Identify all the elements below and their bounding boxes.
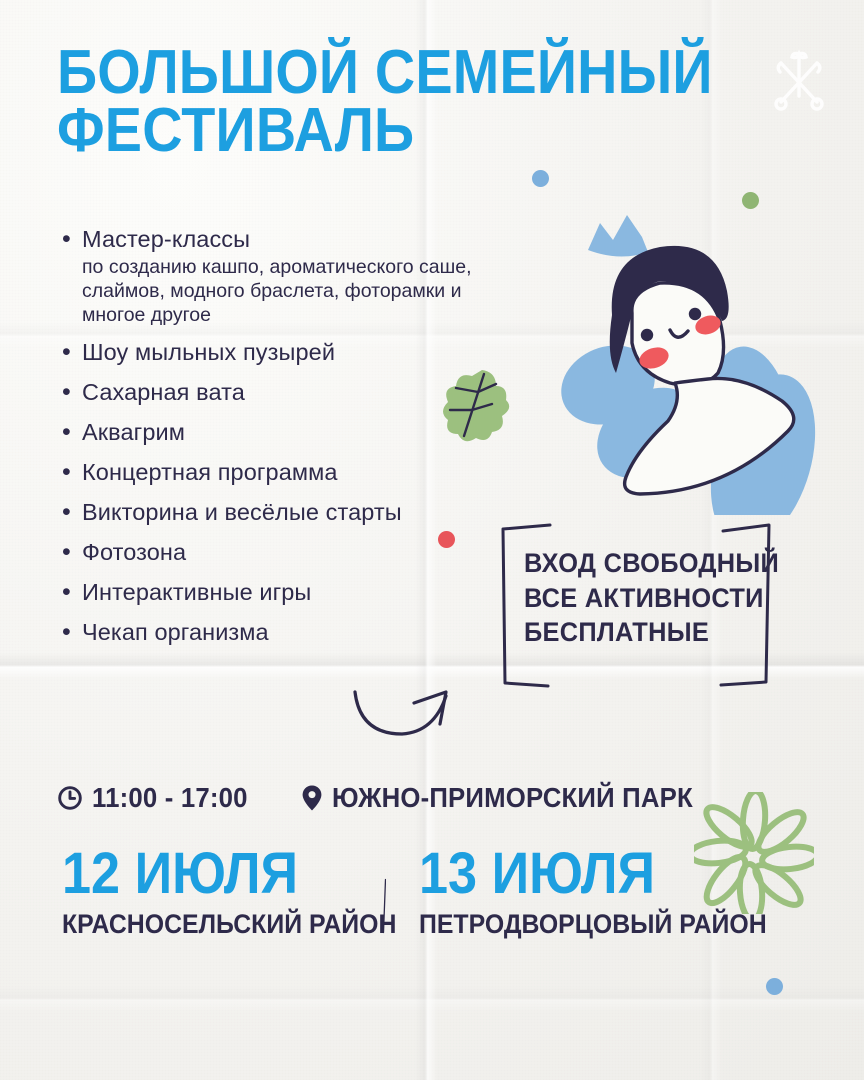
list-item: •Чекап организма: [58, 617, 478, 647]
list-item: •Аквагрим: [58, 417, 478, 447]
free-entry-box: ВХОД СВОБОДНЫЙ ВСЕ АКТИВНОСТИ БЕСПЛАТНЫЕ: [492, 520, 778, 692]
crown-icon: [588, 215, 648, 257]
date-1-day: 12 ИЮЛЯ: [62, 846, 389, 903]
free-entry-line-3: БЕСПЛАТНЫЕ: [524, 615, 742, 650]
list-item-title: Сахарная вата: [82, 377, 245, 407]
poster-canvas: БОЛЬШОЙ СЕМЕЙНЫЙ ФЕСТИВАЛЬ: [0, 0, 864, 1080]
list-item-text: Шоу мыльных пузырей: [82, 337, 335, 367]
date-2-district: ПЕТРОДВОРЦОВЫЙ РАЙОН: [419, 910, 767, 940]
page-title: БОЛЬШОЙ СЕМЕЙНЫЙ ФЕСТИВАЛЬ: [57, 44, 633, 159]
list-item: •Интерактивные игры: [58, 577, 478, 607]
bullet-dot-icon: •: [58, 497, 82, 527]
list-item: •Концертная программа: [58, 457, 478, 487]
list-item-title: Концертная программа: [82, 457, 338, 487]
date-block-1: 12 ИЮЛЯ КРАСНОСЕЛЬСКИЙ РАЙОН: [62, 846, 425, 940]
list-item: •Фотозона: [58, 537, 478, 567]
list-item-text: Сахарная вата: [82, 377, 245, 407]
list-item-text: Интерактивные игры: [82, 577, 311, 607]
list-item-text: Концертная программа: [82, 457, 338, 487]
event-place: ЮЖНО-ПРИМОРСКИЙ ПАРК: [301, 782, 724, 814]
list-item-text: Аквагрим: [82, 417, 185, 447]
list-item-text: Викторина и весёлые старты: [82, 497, 402, 527]
free-entry-text: ВХОД СВОБОДНЫЙ ВСЕ АКТИВНОСТИ БЕСПЛАТНЫЕ: [524, 546, 742, 650]
bullet-dot-icon: •: [58, 537, 82, 567]
bullet-dot-icon: •: [58, 577, 82, 607]
bullet-dot-icon: •: [58, 417, 82, 447]
flower-illustration: [694, 792, 814, 914]
headline-line-2: ФЕСТИВАЛЬ: [57, 102, 633, 160]
bullet-dot-icon: •: [58, 457, 82, 487]
bullet-dot-icon: •: [58, 617, 82, 647]
list-item-title: Викторина и весёлые старты: [82, 497, 402, 527]
bullet-dot-icon: •: [58, 337, 82, 367]
list-item-title: Аквагрим: [82, 417, 185, 447]
list-item-text: Мастер-классыпо созданию кашпо, ароматич…: [82, 224, 478, 327]
list-item-title: Шоу мыльных пузырей: [82, 337, 335, 367]
blue-dot-top: [532, 170, 549, 187]
bullet-dot-icon: •: [58, 224, 82, 327]
event-time: 11:00 - 17:00: [57, 782, 261, 814]
clock-icon: [57, 785, 83, 811]
map-pin-icon: [301, 784, 323, 812]
paper-fold-horizontal-lower: [0, 986, 864, 1012]
date-1-district: КРАСНОСЕЛЬСКИЙ РАЙОН: [62, 910, 396, 940]
fairy-eye-right-icon: [689, 308, 701, 320]
event-info-line: 11:00 - 17:00 ЮЖНО-ПРИМОРСКИЙ ПАРК: [57, 782, 724, 814]
list-item-title: Фотозона: [82, 537, 186, 567]
date-separator: [383, 851, 386, 961]
free-entry-line-1: ВХОД СВОБОДНЫЙ: [524, 546, 742, 581]
list-item: •Сахарная вата: [58, 377, 478, 407]
list-item-text: Фотозона: [82, 537, 186, 567]
spb-emblem-watermark-icon: [768, 46, 830, 118]
bullet-dot-icon: •: [58, 377, 82, 407]
event-time-label: 11:00 - 17:00: [92, 782, 248, 814]
activities-list: •Мастер-классыпо созданию кашпо, аромати…: [58, 224, 478, 657]
list-item-title: Чекап организма: [82, 617, 269, 647]
list-item: •Викторина и весёлые старты: [58, 497, 478, 527]
list-item-text: Чекап организма: [82, 617, 269, 647]
list-item: •Шоу мыльных пузырей: [58, 337, 478, 367]
event-place-label: ЮЖНО-ПРИМОРСКИЙ ПАРК: [332, 782, 693, 814]
blue-dot-bottom: [766, 978, 783, 995]
list-item-subtitle: по созданию кашпо, ароматического саше, …: [82, 255, 478, 327]
list-item-title: Интерактивные игры: [82, 577, 311, 607]
headline-line-1: БОЛЬШОЙ СЕМЕЙНЫЙ: [57, 44, 633, 102]
curved-arrow-illustration: [322, 672, 472, 758]
fairy-illustration: [520, 195, 850, 515]
list-item: •Мастер-классыпо созданию кашпо, аромати…: [58, 224, 478, 327]
list-item-title: Мастер-классы: [82, 224, 478, 254]
free-entry-line-2: ВСЕ АКТИВНОСТИ: [524, 581, 742, 616]
fairy-eye-left-icon: [641, 329, 653, 341]
